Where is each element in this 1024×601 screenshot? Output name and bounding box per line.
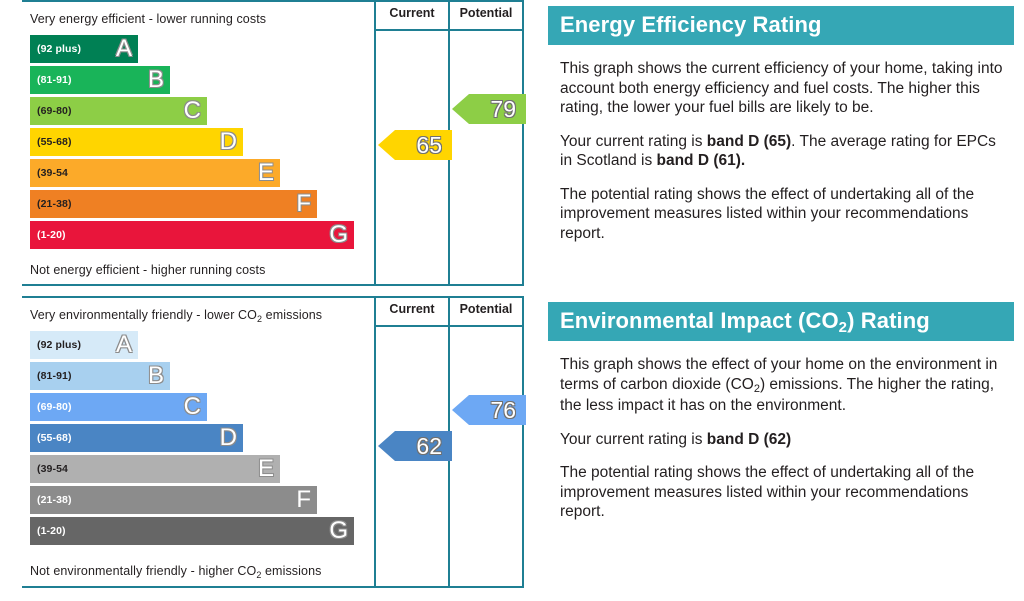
- co2-column-header-potential: Potential: [450, 302, 522, 316]
- co2-band-letter-a: A: [116, 333, 132, 357]
- co2-column-header-current: Current: [376, 302, 448, 316]
- co2-band-letter-g: G: [329, 519, 348, 543]
- band-row-d: (55-68) D: [30, 128, 243, 156]
- co2-info-title: Environmental Impact (CO2) Rating: [548, 302, 1014, 341]
- energy-p2-lead: Your current rating is: [560, 133, 707, 150]
- co2-info-panel: Environmental Impact (CO2) Rating This g…: [548, 302, 1014, 522]
- co2-info-title-pre: Environmental Impact (CO: [560, 308, 839, 333]
- co2-bottom-caption-post: emissions: [261, 564, 321, 578]
- energy-info-paragraph-1: This graph shows the current efficiency …: [560, 59, 1010, 118]
- band-row-a: (92 plus) A: [30, 35, 138, 63]
- energy-info-paragraph-3: The potential rating shows the effect of…: [560, 185, 1010, 244]
- band-row-g: (1-20) G: [30, 221, 354, 249]
- co2-band-range-d: (55-68): [37, 432, 72, 444]
- co2-p1-subscript: 2: [754, 383, 760, 395]
- co2-band-row-b: (81-91) B: [30, 362, 170, 390]
- energy-current-column-divider: [374, 2, 376, 284]
- band-row-f: (21-38) F: [30, 190, 317, 218]
- co2-current-column-divider: [374, 298, 376, 586]
- energy-info-paragraph-2: Your current rating is band D (65). The …: [560, 132, 1010, 171]
- band-letter-d: D: [220, 130, 237, 154]
- band-range-c: (69-80): [37, 105, 72, 117]
- co2-p2-lead: Your current rating is: [560, 431, 707, 448]
- co2-info-paragraph-1: This graph shows the effect of your home…: [560, 355, 1010, 416]
- co2-band-letter-e: E: [258, 457, 274, 481]
- energy-top-caption: Very energy efficient - lower running co…: [30, 12, 266, 26]
- band-letter-a: A: [116, 37, 132, 61]
- co2-info-paragraph-3: The potential rating shows the effect of…: [560, 463, 1010, 522]
- co2-info-title-subscript: 2: [839, 319, 847, 336]
- energy-efficiency-section: Very energy efficient - lower running co…: [0, 0, 1024, 290]
- band-range-g: (1-20): [37, 229, 66, 241]
- energy-band-list: (92 plus) A (81-91) B (69-80) C (55-68) …: [30, 35, 354, 252]
- environmental-impact-section: Very environmentally friendly - lower CO…: [0, 296, 1024, 596]
- co2-band-list: (92 plus) A (81-91) B (69-80) C (55-68) …: [30, 331, 354, 548]
- epc-certificate-graphs: Very energy efficient - lower running co…: [0, 0, 1024, 601]
- co2-info-paragraph-2: Your current rating is band D (62): [560, 430, 1010, 450]
- band-range-d: (55-68): [37, 136, 72, 148]
- co2-band-row-a: (92 plus) A: [30, 331, 138, 359]
- band-letter-g: G: [329, 223, 348, 247]
- co2-top-caption: Very environmentally friendly - lower CO…: [30, 308, 322, 323]
- energy-column-header-potential: Potential: [450, 6, 522, 20]
- co2-info-title-post: ) Rating: [847, 308, 930, 333]
- environmental-impact-graph: Very environmentally friendly - lower CO…: [22, 296, 524, 588]
- energy-p2-average-band: band D (61).: [657, 152, 746, 169]
- co2-band-row-d: (55-68) D: [30, 424, 243, 452]
- co2-band-row-c: (69-80) C: [30, 393, 207, 421]
- band-row-b: (81-91) B: [30, 66, 170, 94]
- co2-band-row-f: (21-38) F: [30, 486, 317, 514]
- co2-band-letter-c: C: [184, 395, 201, 419]
- co2-info-body: This graph shows the effect of your home…: [548, 355, 1014, 522]
- band-letter-f: F: [296, 192, 311, 216]
- energy-current-rating-marker: 65: [378, 130, 452, 160]
- energy-efficiency-graph: Very energy efficient - lower running co…: [22, 0, 524, 286]
- band-range-a: (92 plus): [37, 43, 81, 55]
- band-row-e: (39-54 E: [30, 159, 280, 187]
- co2-band-range-e: (39-54: [37, 463, 68, 475]
- band-range-e: (39-54: [37, 167, 68, 179]
- energy-column-header-rule: [374, 29, 522, 31]
- energy-potential-rating-marker: 79: [452, 94, 526, 124]
- energy-current-rating-value: 65: [416, 134, 442, 157]
- co2-column-header-rule: [374, 325, 522, 327]
- band-letter-e: E: [258, 161, 274, 185]
- energy-info-panel: Energy Efficiency Rating This graph show…: [548, 6, 1014, 243]
- band-range-f: (21-38): [37, 198, 72, 210]
- co2-potential-rating-value: 76: [490, 399, 516, 422]
- co2-p2-current-band: band D (62): [707, 431, 791, 448]
- co2-band-row-e: (39-54 E: [30, 455, 280, 483]
- co2-band-range-a: (92 plus): [37, 339, 81, 351]
- co2-band-row-g: (1-20) G: [30, 517, 354, 545]
- co2-potential-rating-marker: 76: [452, 395, 526, 425]
- co2-band-range-b: (81-91): [37, 370, 72, 382]
- band-range-b: (81-91): [37, 74, 72, 86]
- energy-bottom-caption: Not energy efficient - higher running co…: [30, 263, 265, 277]
- band-letter-c: C: [184, 99, 201, 123]
- co2-top-caption-subscript: 2: [257, 314, 262, 324]
- co2-graph-frame: Very environmentally friendly - lower CO…: [22, 296, 524, 588]
- co2-top-caption-post: emissions: [262, 308, 322, 322]
- co2-current-rating-value: 62: [416, 435, 442, 458]
- co2-bottom-caption: Not environmentally friendly - higher CO…: [30, 564, 321, 579]
- co2-band-range-c: (69-80): [37, 401, 72, 413]
- co2-top-caption-pre: Very environmentally friendly - lower CO: [30, 308, 257, 322]
- co2-band-range-g: (1-20): [37, 525, 66, 537]
- band-letter-b: B: [148, 68, 164, 92]
- co2-current-rating-marker: 62: [378, 431, 452, 461]
- co2-band-letter-b: B: [148, 364, 164, 388]
- co2-bottom-caption-pre: Not environmentally friendly - higher CO: [30, 564, 256, 578]
- co2-band-letter-d: D: [220, 426, 237, 450]
- band-row-c: (69-80) C: [30, 97, 207, 125]
- energy-info-body: This graph shows the current efficiency …: [548, 59, 1014, 243]
- co2-band-letter-f: F: [296, 488, 311, 512]
- co2-band-range-f: (21-38): [37, 494, 72, 506]
- energy-column-header-current: Current: [376, 6, 448, 20]
- energy-p2-current-band: band D (65): [707, 133, 791, 150]
- co2-bottom-caption-subscript: 2: [256, 570, 261, 580]
- energy-info-title: Energy Efficiency Rating: [548, 6, 1014, 45]
- energy-graph-frame: Very energy efficient - lower running co…: [22, 0, 524, 286]
- energy-potential-rating-value: 79: [490, 98, 516, 121]
